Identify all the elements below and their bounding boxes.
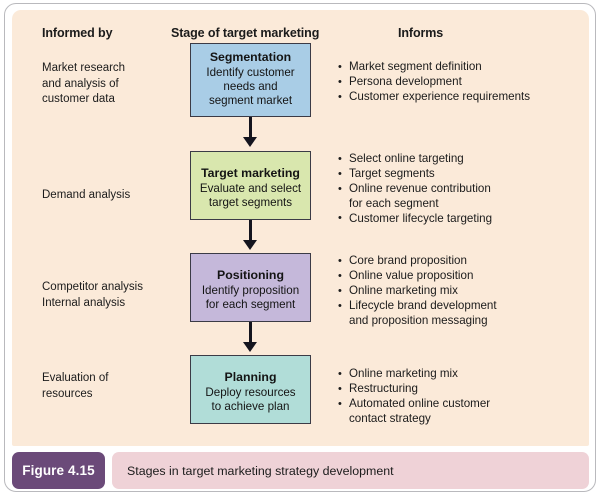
arrow-head-segmentation-to-target-marketing [243, 137, 257, 147]
informs-list-planning: Online marketing mix Restructuring Autom… [338, 367, 590, 427]
stage-description-line: Identify proposition [191, 284, 310, 298]
arrow-head-positioning-to-planning [243, 342, 257, 352]
list-item-text: Online revenue contribution [349, 182, 491, 195]
list-item: Online marketing mix [338, 367, 590, 382]
list-item: Customer experience requirements [338, 90, 590, 105]
list-item-text-continuation: for each segment [349, 197, 590, 212]
stage-description-line: Evaluate and select [191, 182, 310, 196]
list-item: Select online targeting [338, 152, 590, 167]
list-item-text: Persona development [349, 75, 462, 88]
informed-by-line: and analysis of [42, 77, 182, 93]
list-item-text: Market segment definition [349, 60, 482, 73]
list-item: Online value proposition [338, 269, 590, 284]
figure-caption-text: Stages in target marketing strategy deve… [112, 464, 394, 478]
list-item-text: Restructuring [349, 382, 418, 395]
list-item: Restructuring [338, 382, 590, 397]
stage-title: Positioning [191, 268, 310, 283]
column-header-informed-by: Informed by [42, 26, 112, 40]
stage-title: Segmentation [191, 50, 310, 65]
informed-by-line: Market research [42, 61, 182, 77]
list-item: Automated online customer contact strate… [338, 397, 590, 426]
list-item-text: Select online targeting [349, 152, 464, 165]
informed-by-text-target-marketing: Demand analysis [42, 188, 182, 204]
list-item: Online marketing mix [338, 284, 590, 299]
stage-description-line: for each segment [191, 298, 310, 312]
figure-number-badge: Figure 4.15 [12, 452, 105, 489]
list-item: Persona development [338, 75, 590, 90]
informs-list-segmentation: Market segment definition Persona develo… [338, 60, 590, 105]
figure-container: Informed by Stage of target marketing In… [0, 0, 600, 495]
informed-by-line: Internal analysis [42, 296, 182, 312]
informed-by-text-planning: Evaluation of resources [42, 371, 182, 402]
list-item: Customer lifecycle targeting [338, 212, 590, 227]
stage-box-positioning[interactable]: Positioning Identify proposition for eac… [190, 253, 311, 322]
stage-box-planning[interactable]: Planning Deploy resources to achieve pla… [190, 355, 311, 424]
stage-title: Target marketing [191, 166, 310, 181]
informed-by-text-segmentation: Market research and analysis of customer… [42, 61, 182, 108]
list-item-text: Automated online customer [349, 397, 490, 410]
stage-title: Planning [191, 370, 310, 385]
list-item-text: Target segments [349, 167, 435, 180]
stage-description-line: Deploy resources [191, 386, 310, 400]
list-item-text: Lifecycle brand development [349, 299, 497, 312]
list-item-text: Online marketing mix [349, 367, 458, 380]
stage-description-line: target segments [191, 196, 310, 210]
informed-by-line: Competitor analysis [42, 280, 182, 296]
list-item-text: Online marketing mix [349, 284, 458, 297]
column-header-informs: Informs [398, 26, 443, 40]
arrow-head-target-marketing-to-positioning [243, 240, 257, 250]
list-item-text: Online value proposition [349, 269, 473, 282]
list-item-text: Customer experience requirements [349, 90, 530, 103]
informs-list-positioning: Core brand proposition Online value prop… [338, 254, 590, 329]
list-item: Online revenue contribution for each seg… [338, 182, 590, 211]
informed-by-line: Demand analysis [42, 188, 182, 204]
informed-by-text-positioning: Competitor analysis Internal analysis [42, 280, 182, 311]
stage-box-target-marketing[interactable]: Target marketing Evaluate and select tar… [190, 151, 311, 220]
figure-caption-strip: Stages in target marketing strategy deve… [112, 452, 589, 489]
diagram-panel: Informed by Stage of target marketing In… [12, 10, 589, 446]
stage-description-line: to achieve plan [191, 400, 310, 414]
informed-by-line: resources [42, 387, 182, 403]
list-item-text-continuation: and proposition messaging [349, 314, 590, 329]
list-item-text-continuation: contact strategy [349, 412, 590, 427]
list-item: Core brand proposition [338, 254, 590, 269]
list-item-text: Core brand proposition [349, 254, 467, 267]
list-item: Market segment definition [338, 60, 590, 75]
list-item-text: Customer lifecycle targeting [349, 212, 492, 225]
stage-description-line: Identify customer [191, 66, 310, 80]
column-header-stage-of-target-marketing: Stage of target marketing [171, 26, 319, 40]
figure-caption-row: Figure 4.15 Stages in target marketing s… [12, 452, 589, 489]
stage-box-segmentation[interactable]: Segmentation Identify customer needs and… [190, 43, 311, 117]
informed-by-line: Evaluation of [42, 371, 182, 387]
informed-by-line: customer data [42, 92, 182, 108]
stage-description-line: segment market [191, 94, 310, 108]
informs-list-target-marketing: Select online targeting Target segments … [338, 152, 590, 227]
stage-description-line: needs and [191, 80, 310, 94]
list-item: Target segments [338, 167, 590, 182]
list-item: Lifecycle brand development and proposit… [338, 299, 590, 328]
